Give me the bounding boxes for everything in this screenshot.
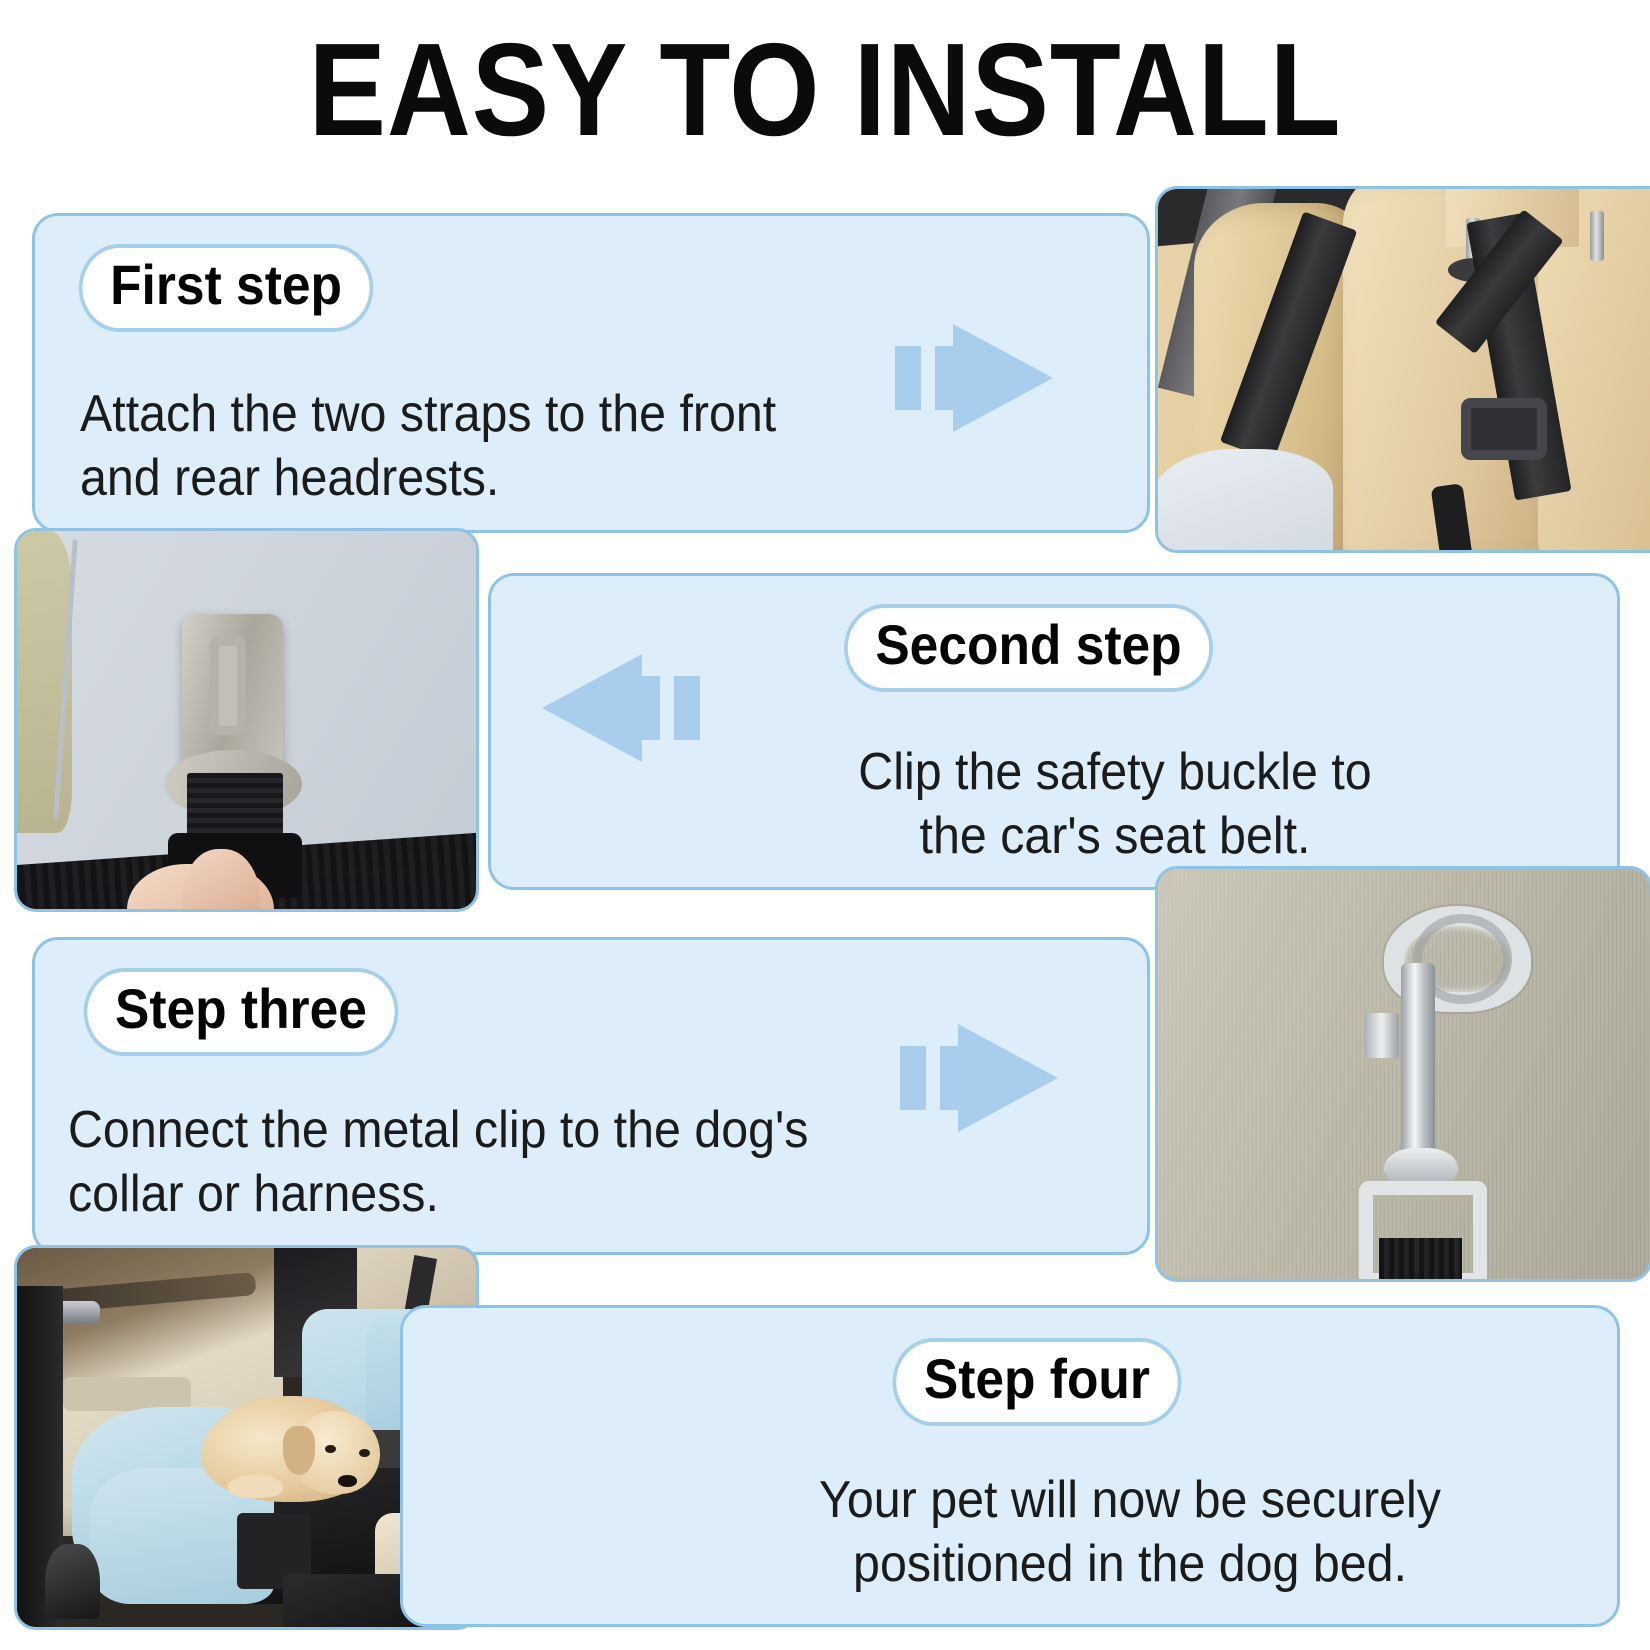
- step-2-text: Clip the safety buckle to the car's seat…: [822, 740, 1408, 869]
- step-4-text: Your pet will now be securely positioned…: [814, 1468, 1446, 1597]
- step-2-arrow-left-icon: [540, 652, 700, 764]
- step-1-badge: First step: [79, 244, 373, 332]
- step-2-photo: [14, 528, 479, 912]
- step-4-badge: Step four: [893, 1338, 1182, 1426]
- step-1-photo: [1155, 186, 1650, 553]
- step-3-badge: Step three: [84, 968, 399, 1056]
- page-title: EASY TO INSTALL: [99, 24, 1551, 156]
- step-2-badge: Second step: [844, 604, 1213, 692]
- step-3-photo: [1155, 866, 1650, 1282]
- infographic-root: EASY TO INSTALL First step Attach the tw…: [0, 0, 1650, 1650]
- step-1-text: Attach the two straps to the front and r…: [80, 382, 805, 511]
- step-3-arrow-right-icon: [900, 1022, 1060, 1134]
- step-1-arrow-right-icon: [895, 322, 1055, 434]
- step-3-text: Connect the metal clip to the dog's coll…: [68, 1098, 812, 1227]
